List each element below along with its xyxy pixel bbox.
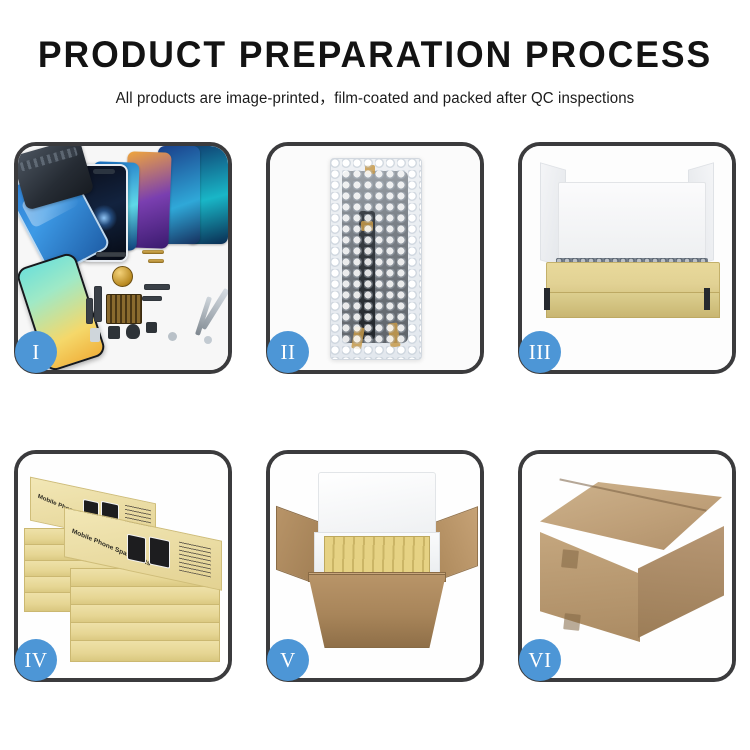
- page-subtitle: All products are image-printed，film-coat…: [11, 86, 739, 108]
- step-badge-2: II: [267, 331, 309, 373]
- step-badge-3: III: [519, 331, 561, 373]
- step-badge-4: IV: [15, 639, 57, 681]
- kraft-box-front-face: [546, 292, 720, 318]
- bubble-texture-overlay: [331, 159, 421, 359]
- flex-cable-gold-2: [148, 259, 164, 263]
- box-art-phone-f1: [127, 534, 146, 564]
- vibrator-part: [126, 324, 140, 339]
- stacked-box-fr-4: [70, 622, 220, 642]
- flex-cable-5: [142, 296, 162, 301]
- step-badge-6: VI: [519, 639, 561, 681]
- screw-mat-component: [106, 294, 142, 324]
- flex-cable-2: [94, 286, 102, 322]
- flex-cable-3: [86, 298, 93, 324]
- small-chip-part: [146, 322, 157, 333]
- carton-tape-lower: [563, 613, 581, 631]
- camera-module-part: [108, 326, 120, 339]
- process-step-panel-3: III: [518, 142, 736, 374]
- sim-tray-part: [90, 328, 100, 342]
- carton-body: [308, 574, 446, 648]
- step-badge-1: I: [15, 331, 57, 373]
- process-step-panel-1: I: [14, 142, 232, 374]
- box-art-phone-f2: [149, 536, 170, 568]
- flex-cable-1: [96, 252, 126, 257]
- speaker-component: [112, 266, 133, 287]
- screw-part-2: [204, 336, 212, 344]
- foam-box-lid: [318, 472, 436, 538]
- process-step-grid: I II: [14, 142, 736, 682]
- step-badge-5: V: [267, 639, 309, 681]
- bubble-wrap-bag: [330, 158, 422, 360]
- process-step-panel-5: V: [266, 450, 484, 682]
- flex-cable-gold-1: [142, 250, 164, 254]
- box-corner-right: [704, 288, 710, 310]
- process-step-panel-6: VI: [518, 450, 736, 682]
- page-title: PRODUCT PREPARATION PROCESS: [15, 36, 735, 73]
- foam-sheet-back: [558, 182, 706, 270]
- stacked-box-fr-2: [70, 586, 220, 606]
- stacked-box-fr-3: [70, 604, 220, 624]
- sealed-carton-left-face: [540, 532, 640, 642]
- process-step-panel-4: Mobile Phone Spare Parts Mobile Phone Sp…: [14, 450, 232, 682]
- process-step-panel-2: II: [266, 142, 484, 374]
- header: PRODUCT PREPARATION PROCESS All products…: [0, 0, 750, 108]
- kraft-boxes-inside: [324, 536, 430, 576]
- box-spec-lines-front: [179, 541, 211, 578]
- screw-part-1: [168, 332, 177, 341]
- carton-tape-upper: [561, 549, 579, 569]
- stacked-box-fr-5: [70, 640, 220, 662]
- sealed-carton-top: [540, 482, 722, 550]
- flex-cable-4: [144, 284, 170, 290]
- box-corner-left: [544, 288, 550, 310]
